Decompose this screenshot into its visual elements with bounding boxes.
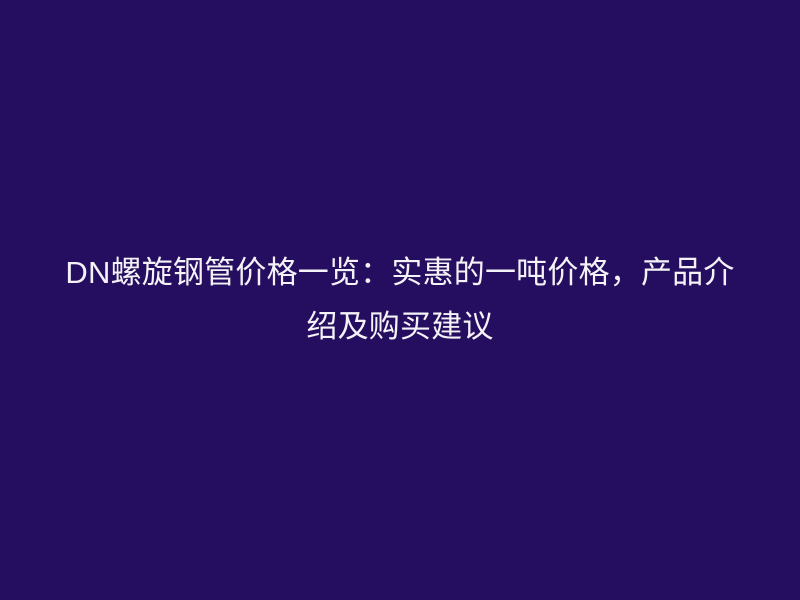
page-title: DN螺旋钢管价格一览：实惠的一吨价格，产品介绍及购买建议: [50, 246, 750, 354]
banner-content: DN螺旋钢管价格一览：实惠的一吨价格，产品介绍及购买建议: [50, 246, 750, 354]
banner-container: DN螺旋钢管价格一览：实惠的一吨价格，产品介绍及购买建议: [0, 0, 800, 600]
